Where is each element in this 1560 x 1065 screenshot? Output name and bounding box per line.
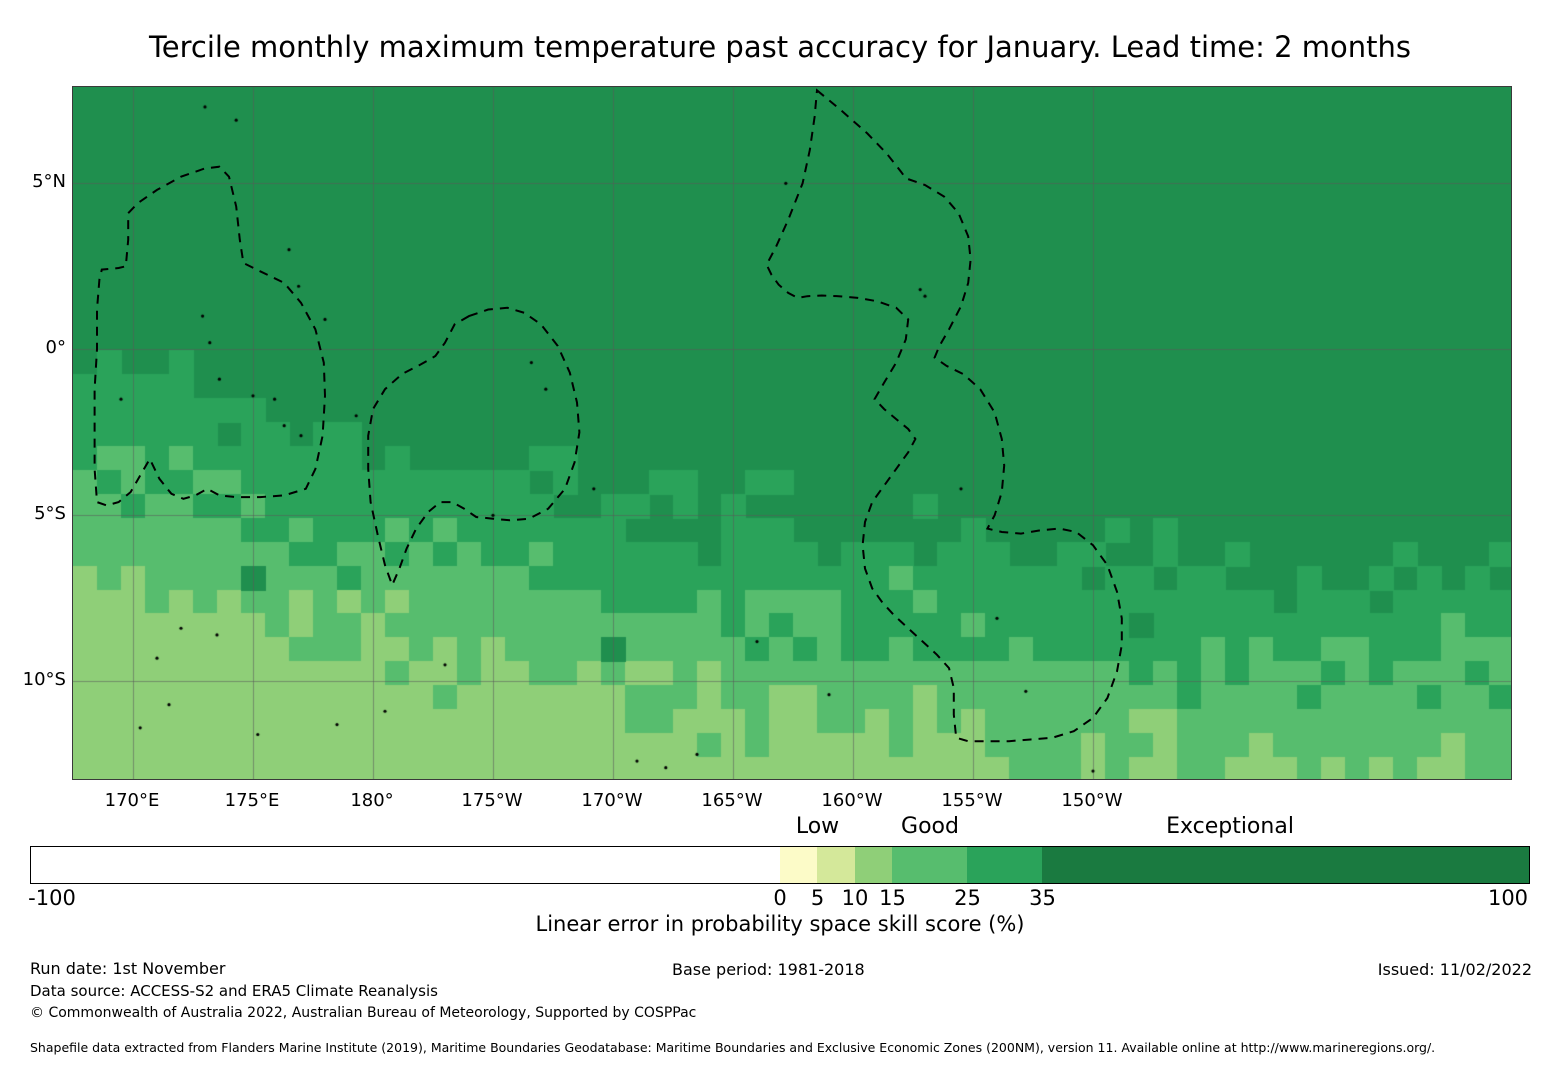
x-tick-label: 175°W (432, 790, 552, 811)
x-tick-label: 165°W (672, 790, 792, 811)
colorbar-segment (967, 847, 1042, 883)
data-source: Data source: ACCESS-S2 and ERA5 Climate … (30, 980, 696, 1002)
y-tick-label: 0° (4, 337, 66, 358)
page-title: Tercile monthly maximum temperature past… (0, 30, 1560, 64)
map-plot-area[interactable] (72, 86, 1512, 780)
colorbar-category-label: Exceptional (1100, 814, 1360, 839)
colorbar-category-label: Good (800, 814, 1060, 839)
eez-boundary-line (767, 90, 1122, 741)
footer-left-block: Run date: 1st November Data source: ACCE… (30, 958, 696, 1024)
colorbar-segment (31, 847, 780, 883)
colorbar-axis-title: Linear error in probability space skill … (30, 912, 1530, 936)
colorbar-segment (817, 847, 854, 883)
x-tick-label: 160°W (792, 790, 912, 811)
issued-date: Issued: 11/02/2022 (1378, 960, 1532, 979)
y-tick-label: 5°S (4, 503, 66, 524)
colorbar-tick-label: -100 (0, 886, 112, 910)
colorbar-segment (892, 847, 967, 883)
x-tick-label: 150°W (1032, 790, 1152, 811)
x-tick-label: 170°E (72, 790, 192, 811)
colorbar-gradient[interactable] (30, 846, 1530, 884)
run-date: Run date: 1st November (30, 958, 696, 980)
colorbar-segment (1042, 847, 1529, 883)
x-tick-label: 180° (312, 790, 432, 811)
eez-boundary-gilbert (95, 167, 325, 506)
colorbar[interactable]: -1000510152535100 LowGoodExceptional Lin… (30, 846, 1530, 884)
x-tick-label: 175°E (192, 790, 312, 811)
x-tick-label: 155°W (912, 790, 1032, 811)
y-tick-label: 5°N (4, 171, 66, 192)
x-tick-label: 170°W (552, 790, 672, 811)
eez-boundary-phoenix (368, 308, 579, 585)
base-period: Base period: 1981-2018 (672, 960, 865, 979)
shapefile-attribution: Shapefile data extracted from Flanders M… (30, 1040, 1435, 1055)
colorbar-tick-label: 35 (983, 886, 1103, 910)
colorbar-segment (855, 847, 892, 883)
colorbar-segment (780, 847, 817, 883)
copyright: © Commonwealth of Australia 2022, Austra… (30, 1002, 696, 1024)
eez-boundary-overlay (73, 87, 1512, 780)
y-tick-label: 10°S (4, 669, 66, 690)
colorbar-tick-label: 100 (1448, 886, 1560, 910)
